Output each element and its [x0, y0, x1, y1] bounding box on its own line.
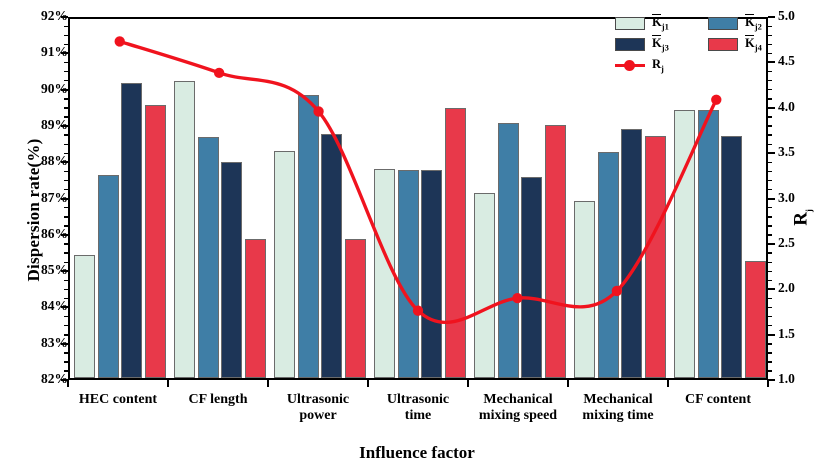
legend-item-kj3[interactable]: Kj3 [615, 36, 669, 53]
x-category-label-4: Mechanicalmixing speed [468, 392, 568, 423]
legend-label: Kj1 [652, 15, 669, 32]
x-category-line: HEC content [68, 392, 168, 408]
y-minor-tick-right [768, 80, 772, 81]
y-minor-tick-right [768, 280, 772, 281]
y-minor-tick-right [768, 153, 772, 154]
rj-line-path [120, 41, 717, 322]
y-tick-label-right: 5.0 [778, 8, 795, 24]
rj-marker-0 [115, 36, 125, 46]
y-minor-tick-right [768, 116, 772, 117]
y-tick-label-right: 3.0 [778, 190, 795, 206]
x-tick-mark [267, 380, 269, 387]
y-minor-tick-right [768, 216, 772, 217]
legend-label: Kj2 [745, 15, 762, 32]
x-category-line: mixing time [568, 408, 668, 424]
x-category-line: power [268, 408, 368, 424]
x-tick-mark [367, 380, 369, 387]
x-category-line: CF length [168, 392, 268, 408]
x-category-line: Ultrasonic [268, 392, 368, 408]
x-category-label-3: Ultrasonictime [368, 392, 468, 423]
y-axis-title-right: Rj [791, 157, 814, 277]
y-minor-tick-right [768, 225, 772, 226]
y-minor-tick-right [768, 198, 772, 199]
y-minor-tick-right [768, 171, 772, 172]
y-tick-label-right: 2.5 [778, 235, 795, 251]
y-minor-tick-right [768, 144, 772, 145]
rj-marker-2 [313, 106, 323, 116]
x-category-line: Mechanical [568, 392, 668, 408]
x-tick-mark [67, 380, 69, 387]
y-minor-tick-right [768, 334, 772, 335]
y-minor-tick-right [768, 62, 772, 63]
y-minor-tick-right [768, 307, 772, 308]
legend-label: Kj4 [745, 36, 762, 53]
y-minor-tick-right [768, 26, 772, 27]
y-minor-tick-right [768, 107, 772, 108]
x-tick-mark [767, 380, 769, 387]
rj-marker-6 [711, 95, 721, 105]
y-minor-tick-right [768, 207, 772, 208]
x-category-label-0: HEC content [68, 392, 168, 408]
legend-swatch-icon [708, 38, 738, 51]
x-tick-mark [467, 380, 469, 387]
y-minor-tick-right [768, 125, 772, 126]
x-axis-title: Influence factor [0, 443, 834, 463]
x-category-label-1: CF length [168, 392, 268, 408]
x-category-label-6: CF content [668, 392, 768, 408]
y-tick-label-right: 4.5 [778, 53, 795, 69]
chart-figure: Dispersion rate(%) Rj Influence factor 8… [0, 0, 834, 473]
y-tick-label-right: 1.0 [778, 371, 795, 387]
rj-marker-1 [214, 68, 224, 78]
y-minor-tick-right [768, 98, 772, 99]
x-category-label-2: Ultrasonicpower [268, 392, 368, 423]
y-minor-tick-right [768, 35, 772, 36]
y-tick-label-right: 3.5 [778, 144, 795, 160]
x-tick-mark [667, 380, 669, 387]
x-category-line: time [368, 408, 468, 424]
rj-marker-3 [413, 306, 423, 316]
y-tick-label-right: 2.0 [778, 280, 795, 296]
legend-swatch-icon [615, 17, 645, 30]
y-minor-tick-right [768, 316, 772, 317]
y-minor-tick-right [768, 134, 772, 135]
y-minor-tick-right [768, 189, 772, 190]
x-tick-mark [567, 380, 569, 387]
y-minor-tick-right [768, 180, 772, 181]
y-minor-tick-right [768, 17, 772, 18]
y-minor-tick-right [768, 298, 772, 299]
rj-marker-5 [612, 286, 622, 296]
x-category-line: CF content [668, 392, 768, 408]
y-minor-tick-right [768, 162, 772, 163]
chart-legend: Kj1Kj2Kj3Kj4Rj [615, 15, 765, 77]
legend-line-marker-icon [615, 59, 645, 72]
y-minor-tick-right [768, 343, 772, 344]
y-minor-tick-right [768, 262, 772, 263]
x-category-line: Mechanical [468, 392, 568, 408]
legend-swatch-icon [615, 38, 645, 51]
legend-swatch-icon [708, 17, 738, 30]
x-category-label-5: Mechanicalmixing time [568, 392, 668, 423]
y-minor-tick-right [768, 289, 772, 290]
y-minor-tick-right [768, 325, 772, 326]
y-minor-tick-right [768, 243, 772, 244]
y-tick-label-right: 1.5 [778, 326, 795, 342]
legend-item-rj[interactable]: Rj [615, 57, 664, 74]
y-minor-tick-right [768, 271, 772, 272]
y-minor-tick-right [768, 44, 772, 45]
y-axis-title-right-text: Rj [791, 209, 812, 226]
y-minor-tick-right [768, 361, 772, 362]
x-category-line: mixing speed [468, 408, 568, 424]
y-tick-label-right: 4.0 [778, 99, 795, 115]
legend-item-kj2[interactable]: Kj2 [708, 15, 762, 32]
y-minor-tick-right [768, 234, 772, 235]
x-tick-mark [167, 380, 169, 387]
x-category-line: Ultrasonic [368, 392, 468, 408]
y-minor-tick-right [768, 252, 772, 253]
y-minor-tick-right [768, 53, 772, 54]
rj-marker-4 [512, 293, 522, 303]
legend-item-kj1[interactable]: Kj1 [615, 15, 669, 32]
legend-label: Kj3 [652, 36, 669, 53]
legend-item-kj4[interactable]: Kj4 [708, 36, 762, 53]
legend-label: Rj [652, 57, 664, 74]
y-minor-tick-right [768, 71, 772, 72]
y-minor-tick-right [768, 370, 772, 371]
y-minor-tick-right [768, 352, 772, 353]
y-minor-tick-right [768, 89, 772, 90]
